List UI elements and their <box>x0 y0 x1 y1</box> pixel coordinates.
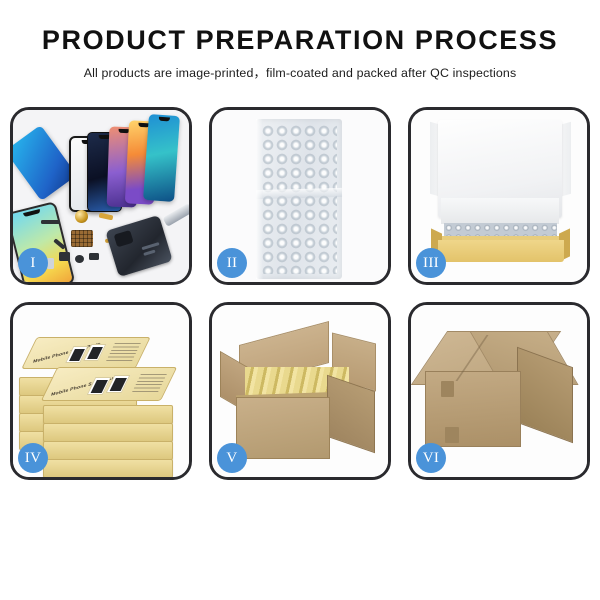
phone-back-cover-icon <box>105 215 173 277</box>
process-step-panel-2: II <box>209 107 391 285</box>
step-badge-2: II <box>217 248 247 278</box>
printed-box-lid-back: Mobile Phone Spare Parts <box>21 337 151 369</box>
stacked-box <box>43 405 173 424</box>
stacked-box <box>43 459 173 477</box>
process-step-panel-5: V <box>209 302 391 480</box>
camera-module-part-icon <box>59 252 70 261</box>
carton-front-panel <box>236 397 330 459</box>
page-title: PRODUCT PREPARATION PROCESS <box>0 26 600 54</box>
process-step-panel-3: III <box>408 107 590 285</box>
step-badge-6: VI <box>416 443 446 473</box>
carton-tab-lower <box>445 427 459 443</box>
phone-blue-icon <box>13 125 77 201</box>
stacked-box <box>43 441 173 460</box>
printed-box-lid-front: Mobile Phone Spare Parts <box>41 367 178 401</box>
small-part-icon <box>47 258 54 269</box>
carton-tab-upper <box>441 381 454 397</box>
process-step-panel-1: I <box>10 107 192 285</box>
step-badge-5: V <box>217 443 247 473</box>
button-part-icon <box>75 255 84 263</box>
carton-front-face <box>425 371 521 447</box>
step-badge-4: IV <box>18 443 48 473</box>
step-badge-3: III <box>416 248 446 278</box>
step-badge-1: I <box>18 248 48 278</box>
foam-front-edge <box>441 198 559 224</box>
page-subtitle: All products are image-printed，film-coat… <box>0 63 600 81</box>
speaker-part-icon <box>75 210 88 223</box>
process-step-panel-6: VI <box>408 302 590 480</box>
logic-board-part-icon <box>71 230 93 247</box>
product-preparation-infographic: PRODUCT PREPARATION PROCESS All products… <box>0 0 600 600</box>
flex-cable-part-icon <box>99 213 114 221</box>
repair-tool-icon <box>163 203 189 227</box>
bubble-wrap-edge <box>256 119 263 279</box>
stacked-box <box>43 423 173 442</box>
header: PRODUCT PREPARATION PROCESS All products… <box>0 0 600 81</box>
sim-tray-part-icon <box>89 253 99 260</box>
phone-teal-screen-icon <box>143 114 180 202</box>
battery-connector-part-icon <box>41 220 60 224</box>
process-step-panel-4: Mobile Phone Spare Parts Mobile Phone Sp… <box>10 302 192 480</box>
kraft-box-front-icon <box>438 240 564 262</box>
process-step-grid: I II <box>10 107 590 480</box>
bubble-texture <box>261 124 337 274</box>
bubble-wrap-bag-icon <box>256 119 342 279</box>
